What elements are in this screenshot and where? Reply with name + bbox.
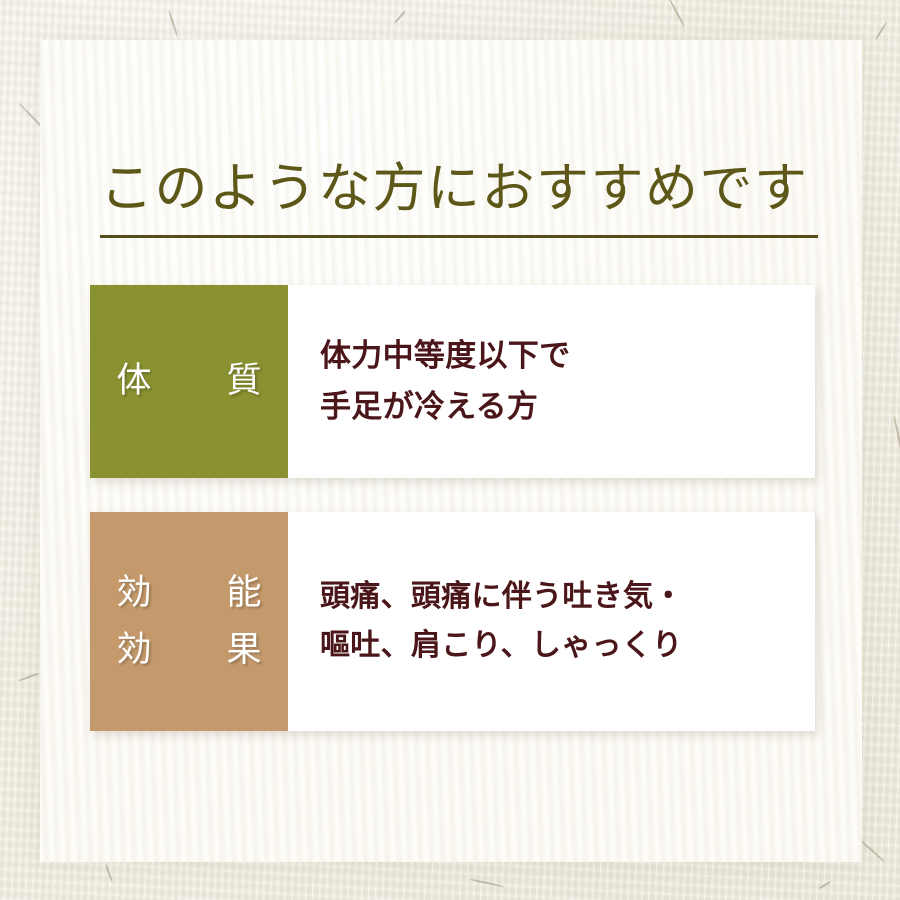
card-body-kounou-kouka: 頭痛、頭痛に伴う吐き気・ 嘔吐、肩こり、しゃっくり [288,512,815,731]
paper-fiber [669,0,685,27]
card-body-line: 体力中等度以下で [320,331,797,381]
card-body-line: 手足が冷える方 [320,382,797,432]
card-label-taishitsu: 体 質 [90,285,288,478]
info-card-kounou-kouka: 効 能 効 果 頭痛、頭痛に伴う吐き気・ 嘔吐、肩こり、しゃっくり [90,512,815,731]
info-card-taishitsu: 体 質 体力中等度以下で 手足が冷える方 [90,285,815,478]
card-body-taishitsu: 体力中等度以下で 手足が冷える方 [288,285,815,478]
title-underline-rule [100,235,818,238]
card-label-line: 効 果 [96,622,281,679]
paper-fiber [394,10,406,23]
paper-fiber [168,10,178,35]
paper-fiber [105,864,113,882]
paper-fiber [470,878,504,887]
heading-block: このような方におすすめです [100,158,818,238]
page-title: このような方におすすめです [100,158,818,221]
paper-fiber [18,672,39,681]
paper-fiber [875,22,887,40]
page-root: このような方におすすめです 体 質 体力中等度以下で 手足が冷える方 効 能 効… [0,0,900,900]
paper-fiber [893,416,900,461]
card-body-line: 頭痛、頭痛に伴う吐き気・ [320,573,797,622]
card-label-line: 効 能 [96,565,281,622]
card-label-line: 体 質 [96,353,281,410]
paper-fiber [818,881,831,890]
card-label-kounou-kouka: 効 能 効 果 [90,512,288,731]
card-body-line: 嘔吐、肩こり、しゃっくり [320,622,797,671]
